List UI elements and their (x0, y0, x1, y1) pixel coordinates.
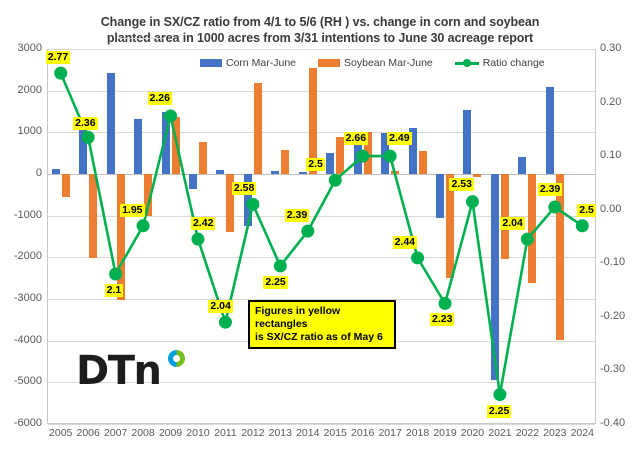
bar-soybean (172, 117, 180, 175)
ratio-value-label: 2.53 (449, 178, 473, 191)
y-axis-left-tick: -6000 (0, 417, 42, 429)
y-axis-right-tick: -0.30 (600, 363, 640, 375)
gridline (48, 257, 595, 258)
ratio-value-label: 2.66 (344, 132, 368, 145)
bar-soybean (89, 174, 97, 258)
bar-soybean (254, 83, 262, 174)
gridline (48, 91, 595, 92)
bar-corn (463, 110, 471, 174)
bar-soybean (391, 171, 399, 174)
ratio-value-label: 1.95 (120, 204, 144, 217)
legend-swatch-corn (200, 59, 222, 67)
gridline (48, 132, 595, 133)
ratio-value-label: 2.1 (105, 284, 124, 297)
bar-corn (52, 169, 60, 174)
bar-corn (299, 172, 307, 174)
bar-corn (162, 112, 170, 175)
y-axis-left-tick: -4000 (0, 334, 42, 346)
legend-label-ratio: Ratio change (483, 57, 545, 69)
bar-corn (518, 157, 526, 175)
y-axis-left-tick: -3000 (0, 292, 42, 304)
bar-soybean (117, 174, 125, 300)
legend-swatch-ratio (455, 58, 479, 68)
bar-corn (189, 174, 197, 189)
bar-soybean (281, 150, 289, 174)
bar-corn (216, 170, 224, 174)
legend-item-soybean[interactable]: Soybean Mar-June (318, 57, 433, 69)
y-axis-left-tick: 3000 (0, 42, 42, 54)
bar-soybean (419, 151, 427, 174)
bar-soybean (473, 174, 481, 177)
bar-corn (491, 174, 499, 380)
bar-corn (326, 153, 334, 174)
zero-line (48, 174, 595, 175)
ratio-value-label: 2.39 (285, 209, 309, 222)
ratio-value-label: 2.5 (577, 204, 596, 217)
y-axis-left-tick: -5000 (0, 375, 42, 387)
gridline (48, 49, 595, 50)
bar-corn (79, 123, 87, 174)
legend-item-ratio[interactable]: Ratio change (455, 57, 545, 69)
ratio-value-label: 2.04 (208, 300, 232, 313)
y-axis-right-tick: 0.00 (600, 203, 640, 215)
legend-label-soybean: Soybean Mar-June (344, 57, 433, 69)
y-axis-left-tick: -2000 (0, 250, 42, 262)
y-axis-right-tick: -0.20 (600, 310, 640, 322)
ratio-value-label: 2.42 (191, 217, 215, 230)
y-axis-right-tick: 0.20 (600, 96, 640, 108)
ratio-value-label: 2.36 (73, 117, 97, 130)
y-axis-right-tick: -0.40 (600, 417, 640, 429)
x-axis-tick: 2024 (562, 427, 602, 439)
ratio-value-label: 2.26 (148, 92, 172, 105)
y-axis-left-tick: 1000 (0, 125, 42, 137)
dtn-logo-text: DTn (76, 348, 160, 394)
annotation-line-2: is SX/CZ ratio as of May 6 (255, 331, 389, 344)
bar-soybean (62, 174, 70, 197)
ratio-value-label: 2.25 (487, 405, 511, 418)
chart-title: Change in SX/CZ ratio from 4/1 to 5/6 (R… (40, 14, 600, 46)
chart-title-line-2: planted area in 1000 acres from 3/31 int… (107, 31, 533, 45)
ratio-value-label: 2.44 (393, 236, 417, 249)
bar-soybean (144, 174, 152, 216)
y-axis-left-tick: 2000 (0, 84, 42, 96)
ratio-value-label: 2.39 (538, 183, 562, 196)
ratio-value-label: 2.58 (232, 182, 256, 195)
ratio-value-label: 2.25 (263, 276, 287, 289)
ratio-value-label: 2.5 (306, 158, 325, 171)
y-axis-right-tick: 0.30 (600, 42, 640, 54)
legend-label-corn: Corn Mar-June (226, 57, 296, 69)
chart-canvas: Change in SX/CZ ratio from 4/1 to 5/6 (R… (0, 0, 640, 460)
bar-corn (546, 87, 554, 174)
gridline (48, 424, 595, 425)
ratio-value-label: 2.77 (46, 51, 70, 64)
bar-corn (271, 171, 279, 174)
logo-divider (118, 38, 164, 39)
dtn-logo: DTn (76, 348, 196, 394)
chart-title-line-1: Change in SX/CZ ratio from 4/1 to 5/6 (R… (101, 15, 540, 29)
ratio-value-label: 2.04 (500, 217, 524, 230)
legend-item-corn[interactable]: Corn Mar-June (200, 57, 296, 69)
annotation-box: Figures in yellow rectangles is SX/CZ ra… (248, 300, 396, 349)
y-axis-right-tick: -0.10 (600, 256, 640, 268)
bar-soybean (199, 142, 207, 174)
bar-corn (134, 119, 142, 174)
ratio-value-label: 2.49 (387, 132, 411, 145)
dtn-logo-mark-icon (168, 350, 185, 367)
y-axis-right-tick: 0.10 (600, 149, 640, 161)
legend-swatch-soybean (318, 59, 340, 67)
bar-soybean (528, 174, 536, 283)
bar-corn (436, 174, 444, 218)
chart-legend: Corn Mar-June Soybean Mar-June Ratio cha… (200, 55, 600, 71)
annotation-line-1: Figures in yellow rectangles (255, 305, 389, 331)
ratio-value-label: 2.23 (430, 313, 454, 326)
y-axis-left-tick: 0 (0, 167, 42, 179)
y-axis-left-tick: -1000 (0, 209, 42, 221)
bar-corn (107, 73, 115, 174)
bar-soybean (556, 174, 564, 340)
